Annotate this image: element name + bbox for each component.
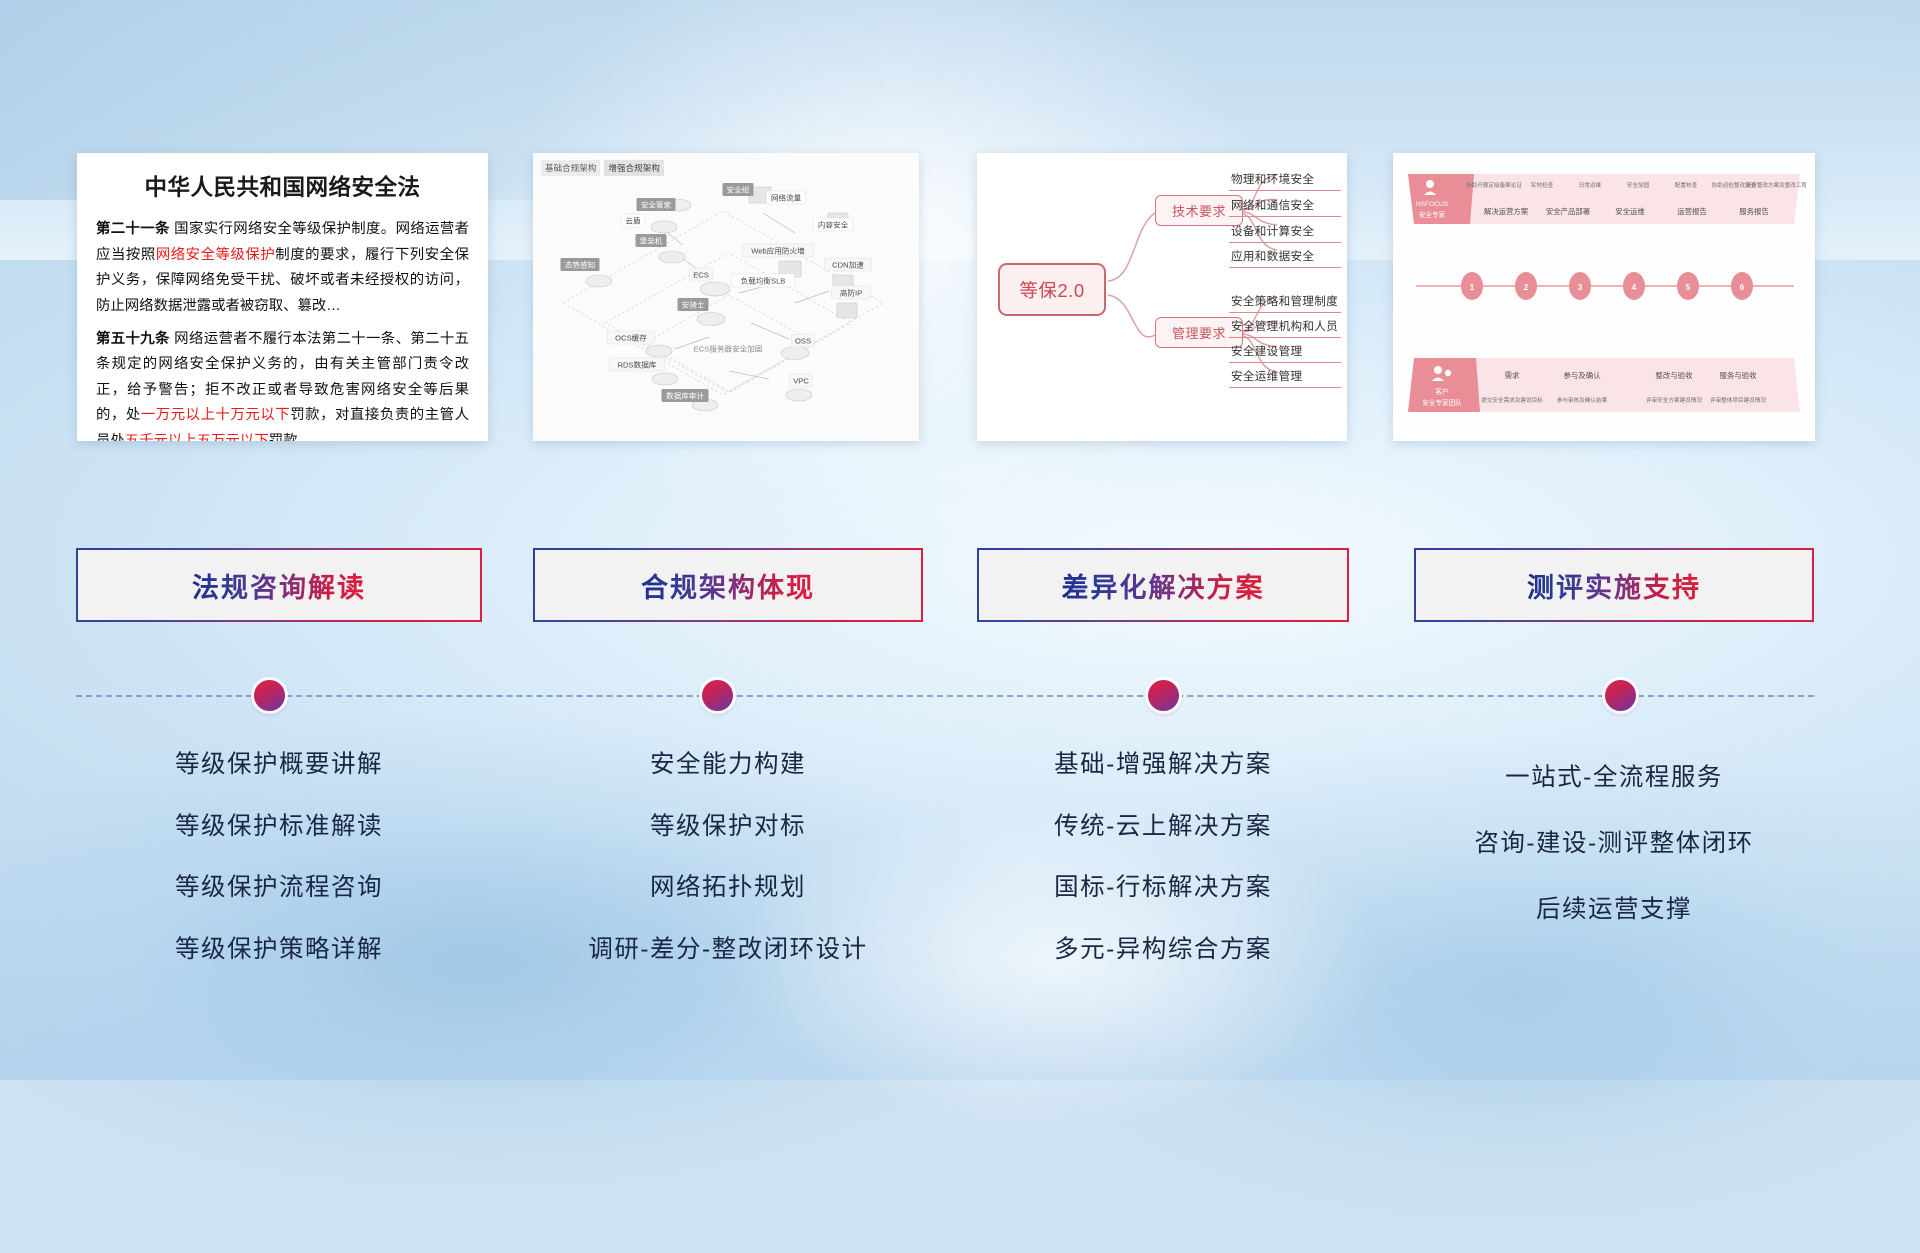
evaluation-diagram: 123456 NSFOCUS安全专家协助开展定级备案论证实地检查日常运维安全加固… <box>1393 153 1815 441</box>
law-text: 罚款。 <box>269 433 312 441</box>
architecture-node-9: RDS数据库 <box>610 358 665 371</box>
architecture-node-18: ECS服务器安全加固 <box>694 344 763 354</box>
evaluation-top-chip-4: 服务报告 <box>1739 207 1769 216</box>
evaluation-bottom-right-sub-1: 评审整体项目建设情况 <box>1710 396 1766 404</box>
evaluation-top-chip-0: 解决运营方案 <box>1484 207 1529 216</box>
architecture-node-label: 堡垒机 <box>640 236 663 246</box>
architecture-node-6: ECS <box>690 268 713 281</box>
architecture-node-label: RDS数据库 <box>618 360 657 370</box>
architecture-node-label: ECS <box>693 271 709 280</box>
list-item: 网络拓扑规划 <box>533 868 923 903</box>
evaluation-brand-line1: NSFOCUS <box>1416 201 1449 208</box>
evaluation-bottom-right-sub-0: 评审安全方案建设情况 <box>1646 396 1702 404</box>
evaluation-step-3: 3 <box>1569 272 1591 300</box>
timeline-node-0[interactable] <box>254 680 285 711</box>
architecture-node-label: 态势感知 <box>565 260 595 270</box>
evaluation-client-sub: 安全专家团队 <box>1422 398 1462 407</box>
evaluation-top-label-4: 配置核查 <box>1675 181 1698 189</box>
mindmap: 等保2.0 技术要求 管理要求 物理和环境安全网络和通信安全设备和计算安全应用和… <box>977 153 1347 441</box>
section-list-0: 等级保护概要讲解等级保护标准解读等级保护流程咨询等级保护策略详解 <box>76 745 482 991</box>
timeline-dashed-line <box>76 695 1814 697</box>
law-body: 第二十一条 国家实行网络安全等级保护制度。网络运营者应当按照网络安全等级保护制度… <box>96 217 469 441</box>
architecture-node-label: VPC <box>793 377 809 386</box>
evaluation-top-chip-1: 安全产品部署 <box>1546 207 1590 216</box>
architecture-svg: 云盾态势感知安全管家安全组堡垒机网络流量ECS安骑士OCS缓存RDS数据库数据库… <box>533 153 919 441</box>
law-document: 中华人民共和国网络安全法 第二十一条 国家实行网络安全等级保护制度。网络运营者应… <box>77 153 488 441</box>
architecture-node-11: Web应用防火墙 <box>743 244 814 257</box>
section-list-1: 安全能力构建等级保护对标网络拓扑规划调研-差分-整改闭环设计 <box>533 745 923 991</box>
architecture-node-label: 网络流量 <box>771 193 802 203</box>
list-item: 调研-差分-整改闭环设计 <box>533 930 923 965</box>
timeline-node-3[interactable] <box>1605 680 1636 711</box>
architecture-node-label: 安全组 <box>727 185 750 195</box>
mindmap-leaf-0-1: 网络和通信安全 <box>1229 193 1341 217</box>
evaluation-step-6: 6 <box>1731 272 1753 300</box>
law-article-label: 第二十一条 <box>96 221 170 237</box>
architecture-node-label: OSS <box>795 337 811 346</box>
architecture-node-2: 安全管家 <box>637 198 676 211</box>
mindmap-root: 等保2.0 <box>998 263 1106 316</box>
section-title-0: 法规咨询解读 <box>192 566 366 605</box>
architecture-node-1: 态势感知 <box>561 258 600 271</box>
architecture-node-label: 高防IP <box>840 288 862 298</box>
evaluation-bottom-right-label-1: 服务与验收 <box>1720 371 1758 380</box>
mindmap-leaf-1-2: 安全建设管理 <box>1229 339 1341 363</box>
architecture-node-label: 数据库审计 <box>666 391 704 401</box>
list-item: 国标-行标解决方案 <box>977 868 1349 903</box>
list-item: 等级保护对标 <box>533 807 923 842</box>
section-title-3: 测评实施支持 <box>1527 566 1701 605</box>
card-evaluation-support[interactable]: 123456 NSFOCUS安全专家协助开展定级备案论证实地检查日常运维安全加固… <box>1393 153 1815 441</box>
law-highlight: 一万元以上十万元以下 <box>141 407 290 423</box>
evaluation-step-number: 6 <box>1740 282 1745 292</box>
timeline-node-2[interactable] <box>1148 680 1179 711</box>
evaluation-bottom-sub-0: 提交安全需求及建设目标 <box>1481 396 1543 404</box>
evaluation-top-label-0: 协助开展定级备案论证 <box>1466 181 1522 189</box>
list-item: 咨询-建设-测评整体闭环 <box>1414 824 1814 859</box>
list-item: 多元-异构综合方案 <box>977 930 1349 965</box>
architecture-node-label: Web应用防火墙 <box>751 246 805 256</box>
section-list-2: 基础-增强解决方案传统-云上解决方案国标-行标解决方案多元-异构综合方案 <box>977 745 1349 991</box>
evaluation-step-number: 3 <box>1578 282 1583 292</box>
evaluation-step-number: 4 <box>1632 282 1637 292</box>
list-item: 等级保护流程咨询 <box>76 868 482 903</box>
architecture-node-3: 安全组 <box>723 183 754 196</box>
card-network-security-law[interactable]: 中华人民共和国网络安全法 第二十一条 国家实行网络安全等级保护制度。网络运营者应… <box>77 153 488 441</box>
evaluation-step-1: 1 <box>1461 272 1483 300</box>
mindmap-leaf-0-2: 设备和计算安全 <box>1229 219 1341 243</box>
card-dengbao-mindmap[interactable]: 等保2.0 技术要求 管理要求 物理和环境安全网络和通信安全设备和计算安全应用和… <box>977 153 1347 441</box>
law-title: 中华人民共和国网络安全法 <box>96 170 469 202</box>
evaluation-step-number: 1 <box>1470 282 1475 292</box>
mindmap-leaf-1-0: 安全策略和管理制度 <box>1229 289 1341 313</box>
evaluation-step-5: 5 <box>1677 272 1699 300</box>
timeline-node-1[interactable] <box>702 680 733 711</box>
architecture-node-label: CDN加速 <box>832 260 864 270</box>
architecture-node-7: 安骑士 <box>678 298 709 311</box>
law-article-1: 第五十九条 网络运营者不履行本法第二十一条、第二十五条规定的网络安全保护义务的，… <box>96 327 469 441</box>
evaluation-client-label: 客户 <box>1435 387 1448 396</box>
architecture-node-4: 堡垒机 <box>636 234 667 247</box>
list-item: 传统-云上解决方案 <box>977 807 1349 842</box>
evaluation-top-label-2: 日常运维 <box>1579 181 1602 189</box>
architecture-node-16: OSS <box>792 334 815 347</box>
evaluation-bottom-label-1: 参与及确认 <box>1564 371 1602 380</box>
architecture-node-label: 安骑士 <box>682 300 705 310</box>
section-title-box-2[interactable]: 差异化解决方案 <box>977 548 1349 622</box>
architecture-node-17: VPC <box>790 374 813 387</box>
evaluation-top-chip-3: 运营报告 <box>1677 207 1707 216</box>
architecture-node-12: 负载均衡SLB <box>732 274 795 287</box>
evaluation-brand-line2: 安全专家 <box>1419 210 1446 219</box>
list-item: 基础-增强解决方案 <box>977 745 1349 780</box>
architecture-diagram: 基础合规架构 增强合规架构 <box>533 153 919 441</box>
section-list-3: 一站式-全流程服务咨询-建设-测评整体闭环后续运营支撑 <box>1414 758 1814 956</box>
evaluation-top-label-3: 安全加固 <box>1627 181 1650 189</box>
architecture-node-label: 云盾 <box>625 216 641 226</box>
list-item: 安全能力构建 <box>533 745 923 780</box>
evaluation-bottom-sub-1: 参与审核及确认结果 <box>1557 396 1608 404</box>
architecture-node-label: 负载均衡SLB <box>741 276 786 286</box>
evaluation-top-label-6: 测评整改方案及整改工程实施 <box>1746 181 1806 189</box>
evaluation-top-chip-2: 安全运维 <box>1615 207 1645 216</box>
list-item: 等级保护概要讲解 <box>76 745 482 780</box>
list-item: 一站式-全流程服务 <box>1414 758 1814 793</box>
mindmap-leaf-0-0: 物理和环境安全 <box>1229 167 1341 191</box>
card-compliance-architecture[interactable]: 基础合规架构 增强合规架构 <box>533 153 919 441</box>
mindmap-leaf-1-1: 安全管理机构和人员 <box>1229 314 1341 338</box>
mindmap-leaf-1-3: 安全运维管理 <box>1229 364 1341 388</box>
list-item: 等级保护标准解读 <box>76 807 482 842</box>
evaluation-step-2: 2 <box>1515 272 1537 300</box>
section-title-box-1[interactable]: 合规架构体现 <box>533 548 923 622</box>
section-title-2: 差异化解决方案 <box>1062 566 1265 605</box>
architecture-node-5: 网络流量 <box>767 191 806 204</box>
evaluation-canvas: 123456 NSFOCUS安全专家协助开展定级备案论证实地检查日常运维安全加固… <box>1402 162 1806 432</box>
law-highlight: 五千元以上五万元以下 <box>125 433 269 441</box>
architecture-node-label: ECS服务器安全加固 <box>694 344 763 354</box>
architecture-node-15: 内容安全 <box>814 218 853 231</box>
law-highlight: 网络安全等级保护 <box>156 247 276 263</box>
section-title-1: 合规架构体现 <box>641 566 815 605</box>
architecture-node-label: OCS缓存 <box>615 333 647 343</box>
architecture-node-label: 内容安全 <box>818 220 849 230</box>
evaluation-bottom-right-label-0: 整改与验收 <box>1656 371 1694 380</box>
architecture-node-10: 数据库审计 <box>662 389 709 402</box>
section-title-box-0[interactable]: 法规咨询解读 <box>76 548 482 622</box>
evaluation-step-4: 4 <box>1623 272 1645 300</box>
evaluation-step-number: 2 <box>1524 282 1529 292</box>
evaluation-top-label-1: 实地检查 <box>1531 181 1554 189</box>
mindmap-leaf-0-3: 应用和数据安全 <box>1229 244 1341 268</box>
list-item: 等级保护策略详解 <box>76 930 482 965</box>
architecture-node-13: CDN加速 <box>825 258 872 271</box>
section-title-box-3[interactable]: 测评实施支持 <box>1414 548 1814 622</box>
slide-stage: 中华人民共和国网络安全法 第二十一条 国家实行网络安全等级保护制度。网络运营者应… <box>0 0 1920 1080</box>
law-article-label: 第五十九条 <box>96 331 170 347</box>
evaluation-bottom-label-0: 需求 <box>1505 371 1520 380</box>
evaluation-step-number: 5 <box>1686 282 1691 292</box>
architecture-node-14: 高防IP <box>832 286 871 299</box>
architecture-node-label: 安全管家 <box>641 200 672 210</box>
evaluation-svg: 123456 NSFOCUS安全专家协助开展定级备案论证实地检查日常运维安全加固… <box>1402 162 1806 432</box>
list-item: 后续运营支撑 <box>1414 890 1814 925</box>
law-article-0: 第二十一条 国家实行网络安全等级保护制度。网络运营者应当按照网络安全等级保护制度… <box>96 217 469 320</box>
architecture-node-8: OCS缓存 <box>608 331 655 344</box>
architecture-node-0: 云盾 <box>622 214 645 227</box>
